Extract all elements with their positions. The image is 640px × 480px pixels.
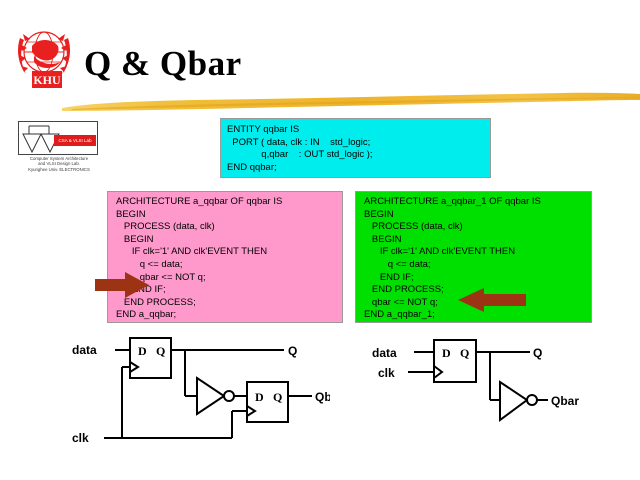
page-title: Q & Qbar <box>84 44 242 84</box>
lab-corner-mark: CSA & VLSI Lab Computer System Architect… <box>12 117 104 175</box>
lab-mark-tag: CSA & VLSI Lab <box>54 135 96 146</box>
circuit-right-label-q: Q <box>533 346 542 360</box>
circuit-right-label-data: data <box>372 346 397 360</box>
left-pointing-arrow-icon <box>458 288 526 312</box>
circuit-left-label-clk: clk <box>72 431 89 445</box>
gold-swoosh-divider <box>62 92 640 112</box>
circuit-right-label-qbar: Qbar <box>551 394 579 408</box>
entity-declaration-box: ENTITY qqbar IS PORT ( data, clk : IN st… <box>220 118 491 178</box>
khu-logo-icon: KHU <box>14 24 74 90</box>
circuit-left-ff1-d: D <box>138 344 147 358</box>
circuit-diagram-two-flipflop: data clk Q Qbar D Q D Q <box>72 334 330 456</box>
circuit-left-label-q: Q <box>288 344 297 358</box>
svg-text:KHU: KHU <box>33 73 61 87</box>
circuit-left-ff2-q: Q <box>273 390 282 404</box>
architecture-a-qqbar-box: ARCHITECTURE a_qqbar OF qqbar IS BEGIN P… <box>107 191 343 323</box>
lab-caption-line3: Kyunghee Univ. ELECTRONICS <box>14 167 104 172</box>
right-pointing-arrow-icon <box>95 272 149 298</box>
circuit-left-label-data: data <box>72 343 97 357</box>
circuit-left-label-qbar: Qbar <box>315 390 330 404</box>
circuit-diagram-one-flipflop: data clk Q Qbar D Q <box>372 338 584 438</box>
circuit-right-ff1-d: D <box>442 346 451 360</box>
circuit-left-ff1-q: Q <box>156 344 165 358</box>
slide-canvas: KHU Q & Qbar <box>0 0 640 480</box>
circuit-right-ff1-q: Q <box>460 346 469 360</box>
circuit-right-label-clk: clk <box>378 366 395 380</box>
circuit-left-ff2-d: D <box>255 390 264 404</box>
